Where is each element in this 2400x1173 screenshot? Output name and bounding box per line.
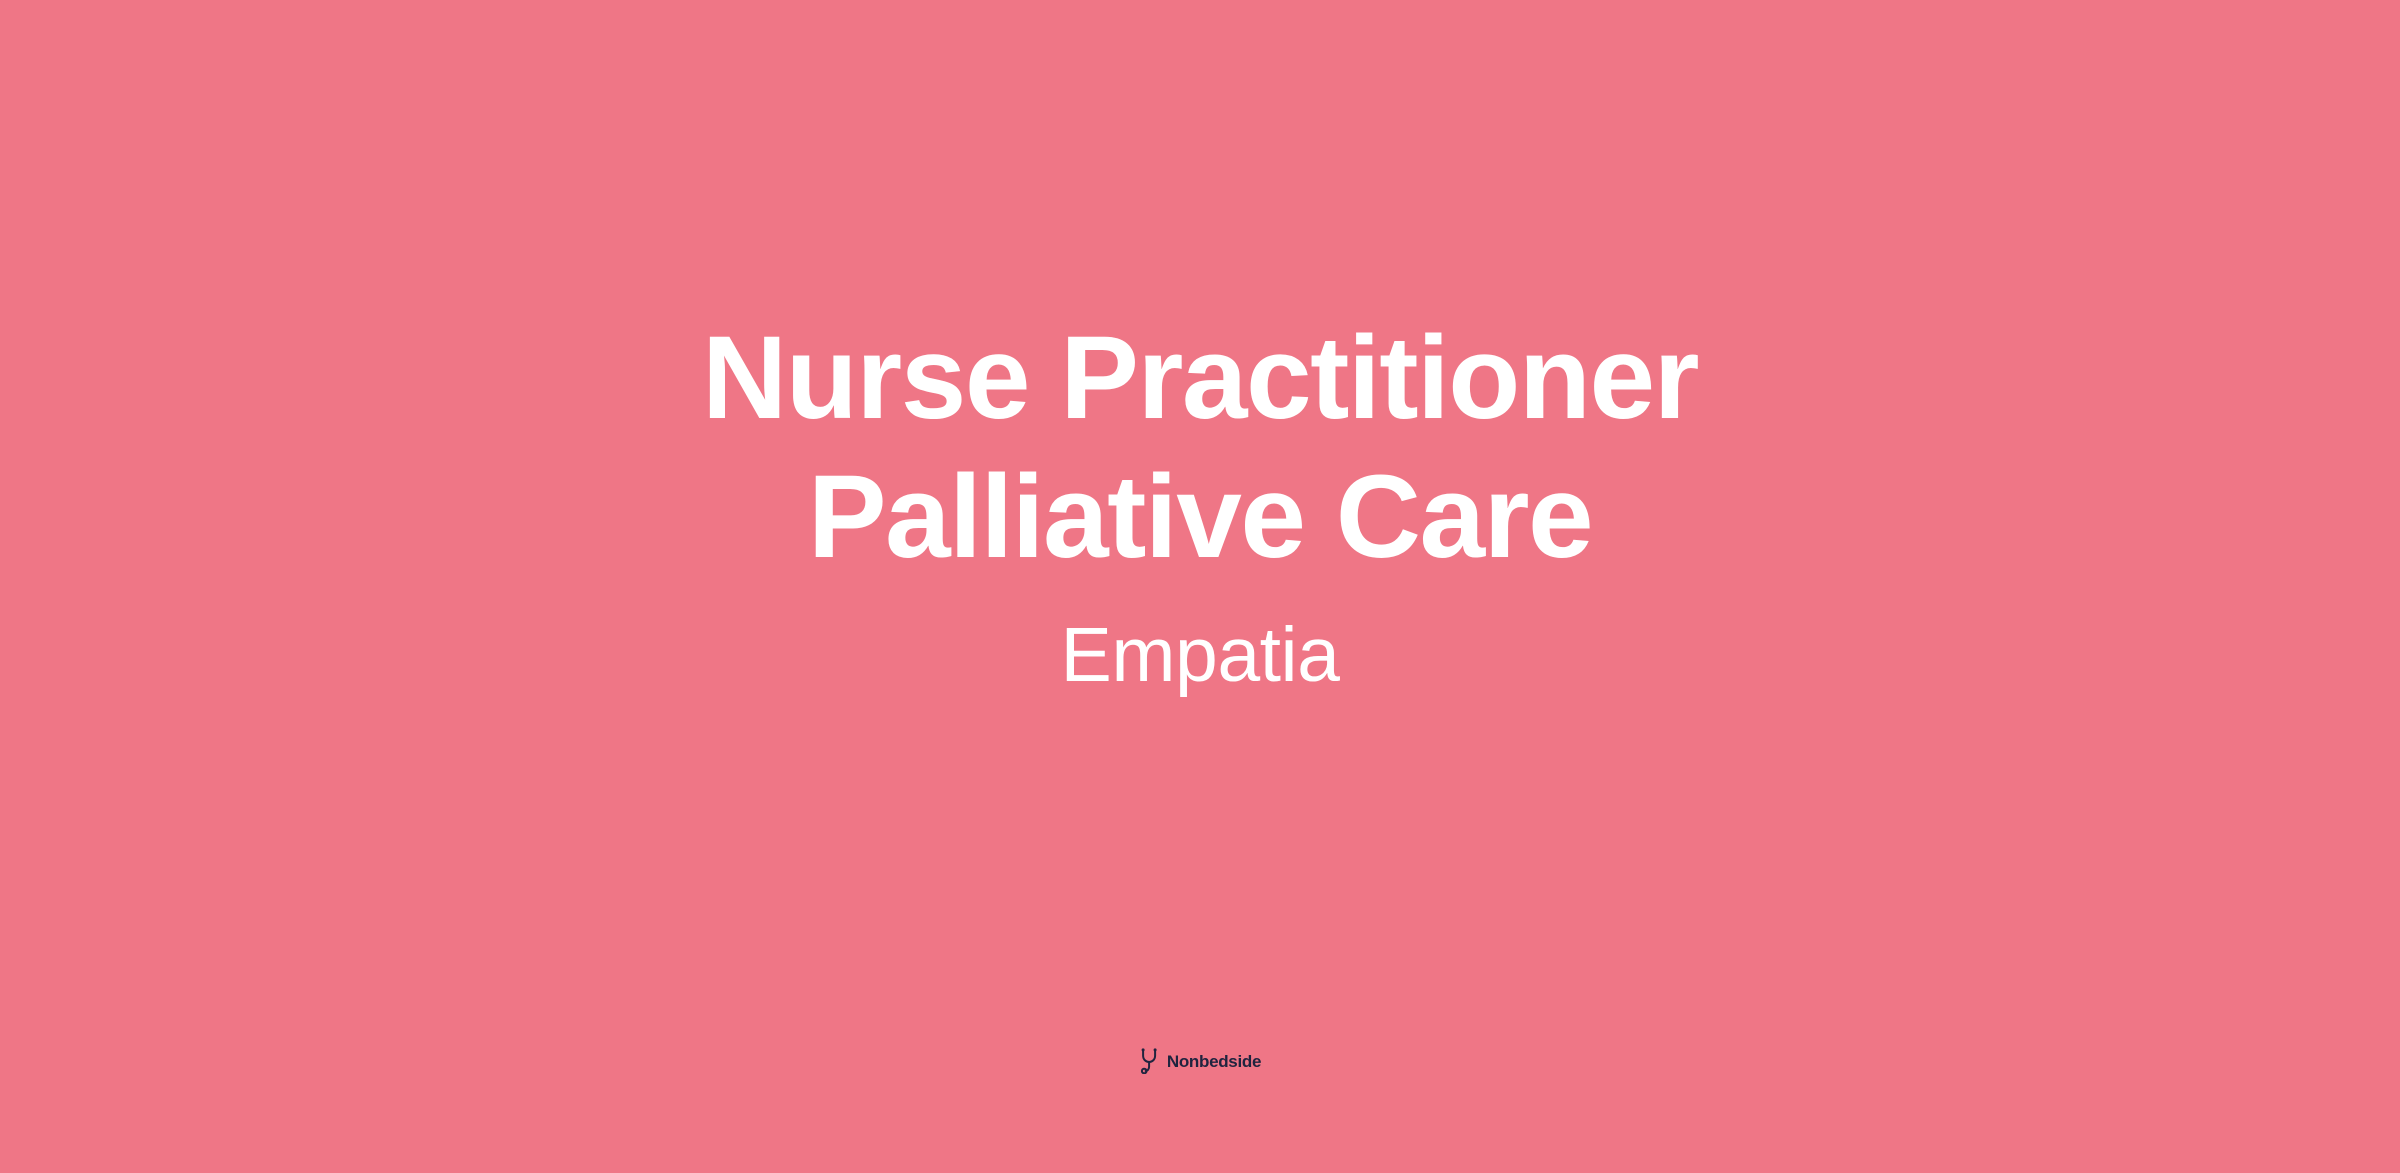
- presentation-title-slide: Nurse Practitioner Palliative Care Empat…: [0, 0, 2400, 1173]
- title-block: Nurse Practitioner Palliative Care Empat…: [0, 0, 2400, 1010]
- stethoscope-icon: [1139, 1048, 1160, 1074]
- page-subtitle: Empatia: [450, 609, 1950, 701]
- brand-lockup: Nonbedside: [0, 1048, 2400, 1074]
- page-title: Nurse Practitioner Palliative Care: [450, 309, 1950, 587]
- brand-name: Nonbedside: [1167, 1053, 1261, 1070]
